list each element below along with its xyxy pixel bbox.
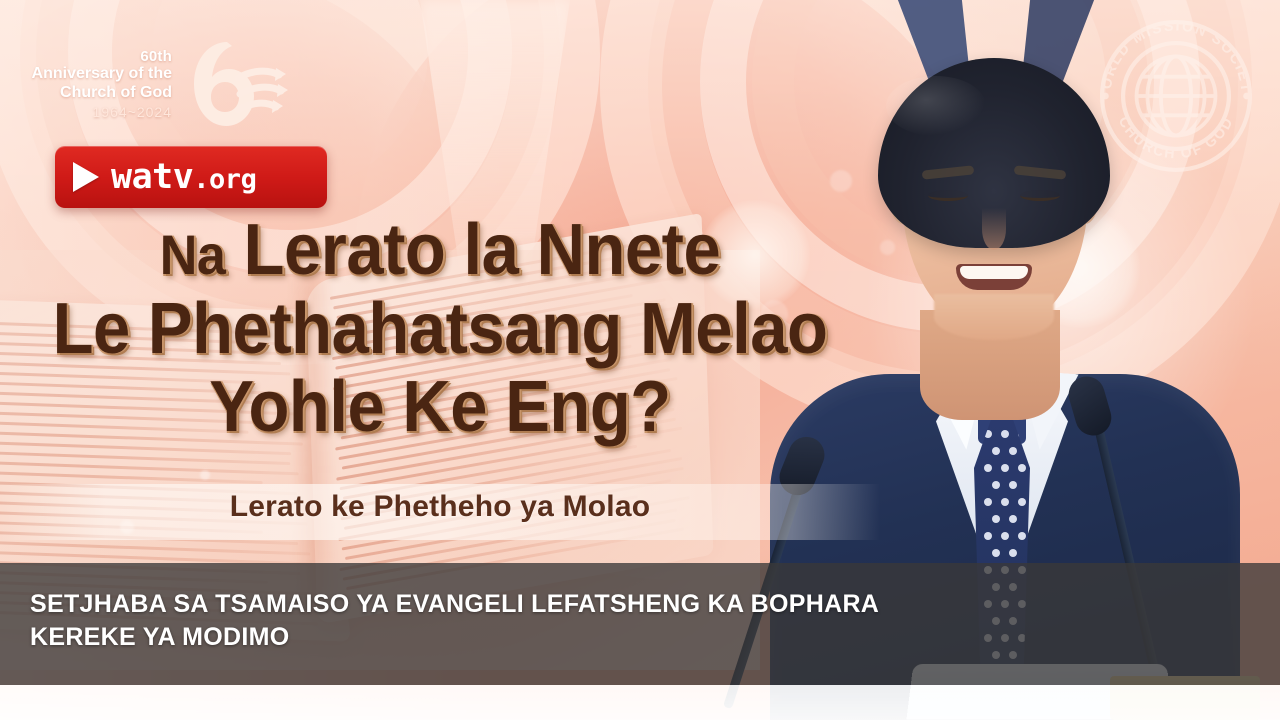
watv-name: watv [111,157,193,197]
eye-right [1020,190,1060,201]
watv-badge[interactable]: watv.org [55,146,327,208]
title-block: Na Lerato la Nnete Le Phethahatsang Mela… [0,214,880,444]
title-line-2: Le Phethahatsang Melao [31,293,849,366]
title-line-1-big: Lerato la Nnete [244,210,721,290]
eye-left [928,190,968,201]
anniversary-line3: Church of God [20,84,172,103]
head [878,58,1110,344]
caption-line-1: SETJHABA SA TSAMAISO YA EVANGELI LEFATSH… [30,588,1030,621]
anniversary-years: 1964~2024 [20,104,172,120]
globe-icon [1137,57,1216,136]
caption-line-2: KEREKE YA MODIMO [30,621,1030,654]
sixty-swoosh-icon [180,36,290,132]
svg-text:WORLD MISSION SOCIETY: WORLD MISSION SOCIETY [1092,12,1254,94]
mouth [956,264,1032,290]
bottom-strip [0,685,1280,720]
title-line-1-small: Na [160,223,226,286]
nose [982,208,1006,250]
subtitle: Lerato ke Phetheho ya Molao [0,490,880,524]
anniversary-emblem: 60th Anniversary of the Church of God 19… [20,34,290,134]
chin [934,294,1054,340]
anniversary-line2: Anniversary of the [20,65,172,84]
teeth [960,266,1028,279]
bokeh-4 [200,470,210,480]
anniversary-line1: 60th [20,48,172,65]
wmscog-seal: WORLD MISSION SOCIETY CHURCH OF GOD [1092,12,1260,180]
title-line-1: Na Lerato la Nnete [31,214,849,287]
play-icon [73,162,99,192]
anniversary-text: 60th Anniversary of the Church of God 19… [20,48,172,121]
watv-label: watv.org [111,160,256,195]
thumbnail-canvas: 60th Anniversary of the Church of God 19… [0,0,1280,720]
caption-text: SETJHABA SA TSAMAISO YA EVANGELI LEFATSH… [30,588,1030,655]
title-line-3: Yohle Ke Eng? [31,371,849,444]
watv-tld: .org [193,164,256,195]
